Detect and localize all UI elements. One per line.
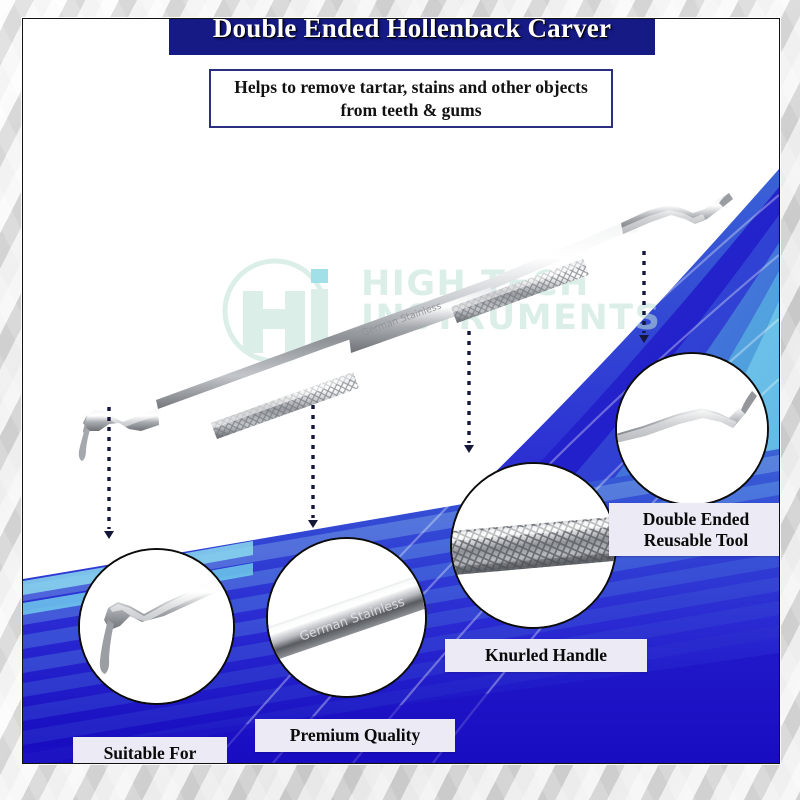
callout-label-oral-care: Suitable For Oral Care bbox=[73, 737, 227, 764]
callout-label-premium-quality: Premium Quality bbox=[255, 719, 455, 752]
callout-label-knurled-handle: Knurled Handle bbox=[445, 639, 647, 672]
product-subtitle: Helps to remove tartar, stains and other… bbox=[211, 76, 611, 121]
magnifier-double-ended bbox=[615, 352, 769, 506]
callout-label-double-ended: Double Ended Reusable Tool bbox=[609, 503, 780, 556]
magnifier-premium-quality: German Stainless bbox=[266, 537, 427, 698]
outer-frame: HIGH TECH INSTRUMENTS bbox=[0, 0, 800, 800]
magnifier-oral-care bbox=[78, 548, 235, 705]
infographic-canvas: HIGH TECH INSTRUMENTS bbox=[22, 18, 780, 764]
product-title-bar: Double Ended Hollenback Carver bbox=[169, 18, 655, 55]
magnifier-knurled-handle bbox=[450, 462, 617, 629]
page-title: Double Ended Hollenback Carver bbox=[213, 18, 611, 44]
product-subtitle-box: Helps to remove tartar, stains and other… bbox=[209, 69, 613, 128]
